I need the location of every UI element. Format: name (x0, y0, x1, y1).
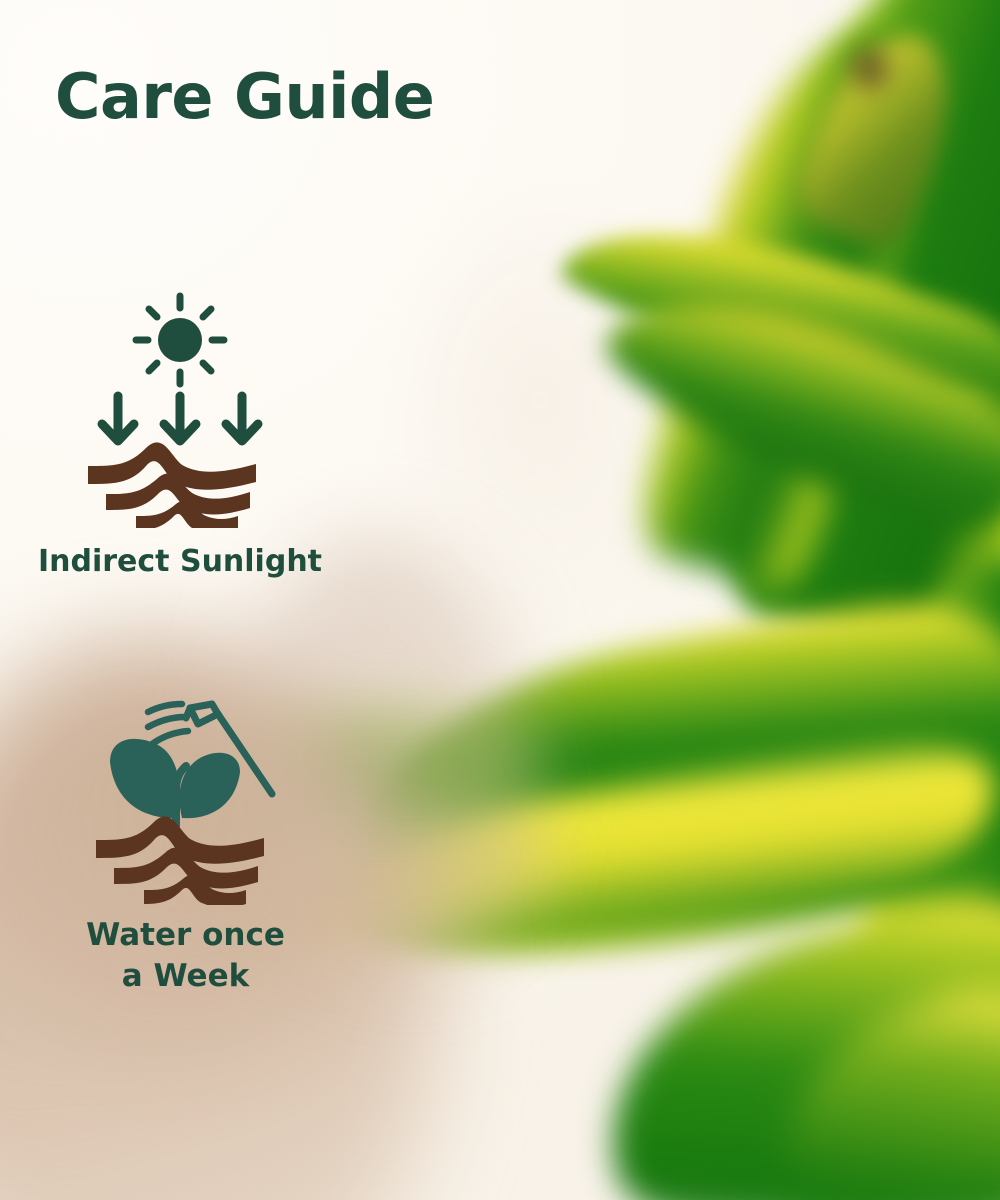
spray-bottle-seedling-soil-icon (86, 690, 286, 905)
down-arrow-icon (102, 396, 134, 441)
seedling-leaves-icon (110, 739, 240, 826)
spray-lines-icon (148, 704, 188, 744)
page-title: Care Guide (55, 66, 434, 128)
down-arrow-icon (164, 396, 196, 441)
down-arrow-icon (226, 396, 258, 441)
sun-arrows-soil-icon (80, 288, 280, 528)
care-item-indirect-sunlight: Indirect Sunlight (30, 288, 330, 582)
care-item-water-once-a-week: Water once a Week (48, 690, 323, 997)
soil-waves-icon (88, 442, 256, 528)
sun-icon (136, 296, 224, 384)
care-item-label-indirect-sunlight: Indirect Sunlight (38, 542, 322, 582)
soil-waves-icon (96, 816, 264, 905)
care-item-label-water-once-a-week: Water once a Week (86, 915, 285, 997)
care-guide-banner: Care Guide (0, 0, 1000, 1200)
